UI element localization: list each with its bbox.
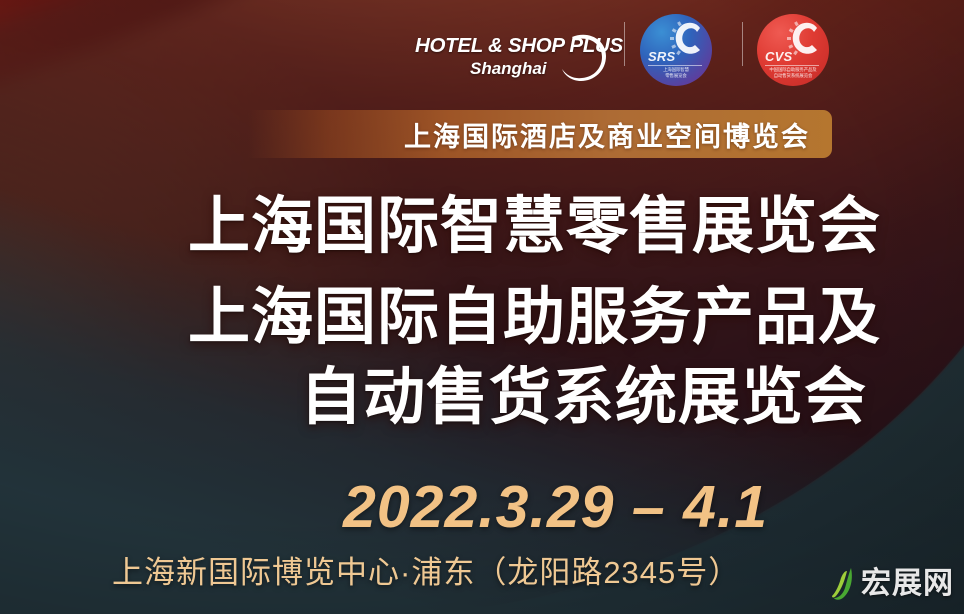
green-leaf-icon [831, 567, 857, 601]
cvs-abbr: CVS [765, 50, 792, 63]
watermark-text: 宏展网 [861, 569, 954, 599]
logo-divider [624, 22, 625, 66]
logo-row: HOTEL & SHOP PLUS Shanghai SRS [0, 0, 964, 100]
c-gear-icon [787, 18, 823, 58]
srs-chinese-name: 上海国际智慧 零售展览会 [648, 67, 704, 79]
event-venue: 上海新国际博览中心·浦东（龙阳路2345号） [112, 557, 740, 588]
srs-rule [648, 65, 702, 66]
srs-cn-line2: 零售展览会 [665, 73, 686, 78]
event-date: 2022.3.29 – 4.1 [343, 478, 768, 537]
srs-cn-line1: 上海国际智慧 [663, 67, 689, 72]
srs-abbr: SRS [648, 50, 675, 63]
cvs-cn-line2: 自动售货系统展览会 [774, 73, 813, 78]
sub-banner-text: 上海国际酒店及商业空间博览会 [404, 115, 832, 154]
sub-banner: 上海国际酒店及商业空间博览会 [248, 110, 832, 158]
c-gear-icon [670, 18, 706, 58]
cvs-chinese-name: 中国国际自助服务产品及 自动售货系统展览会 [765, 67, 821, 79]
headline-2: 上海国际自助服务产品及 [188, 287, 881, 349]
cvs-cn-line1: 中国国际自助服务产品及 [769, 67, 816, 72]
logo-divider [742, 22, 743, 66]
srs-logo: SRS 上海国际智慧 零售展览会 [640, 14, 712, 86]
exhibition-poster: HOTEL & SHOP PLUS Shanghai SRS [0, 0, 964, 614]
hotel-shop-plus-shanghai-logo: HOTEL & SHOP PLUS Shanghai [415, 30, 600, 80]
headline-3: 自动售货系统展览会 [300, 367, 867, 429]
cvs-logo: CVS 中国国际自助服务产品及 自动售货系统展览会 [757, 14, 829, 86]
watermark: 宏展网 [831, 562, 954, 606]
headline-1: 上海国际智慧零售展览会 [188, 196, 881, 258]
circle-brush-ring-icon [558, 32, 608, 82]
logo-title-line2: Shanghai [470, 60, 547, 77]
cvs-rule [765, 65, 819, 66]
